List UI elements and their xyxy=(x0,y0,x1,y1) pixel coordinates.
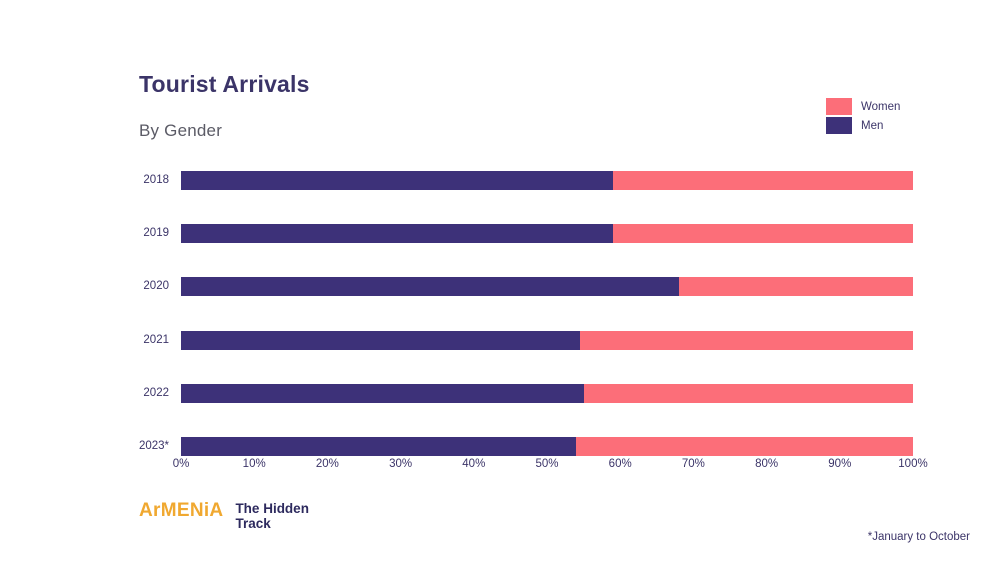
logo-hidden-track-text: The Hidden Track xyxy=(235,501,309,531)
bar-row xyxy=(181,224,913,243)
legend-item-women[interactable]: Women xyxy=(826,98,956,115)
bar-row xyxy=(181,437,913,456)
x-axis-tick: 70% xyxy=(682,458,705,470)
chart-legend: Women Men xyxy=(826,98,956,136)
bar-segment-men[interactable] xyxy=(181,171,613,190)
logo-hidden-track-line1: The Hidden xyxy=(235,501,309,516)
logo-armenia-text: ArMENiA xyxy=(139,501,223,521)
bar-segment-women[interactable] xyxy=(679,277,913,296)
x-axis-tick: 90% xyxy=(828,458,851,470)
y-axis-label: 2020 xyxy=(109,277,169,296)
x-axis-tick: 50% xyxy=(535,458,558,470)
bar-row xyxy=(181,384,913,403)
chart-canvas: Tourist Arrivals By Gender Women Men 201… xyxy=(0,0,1000,563)
x-axis-tick: 100% xyxy=(898,458,927,470)
legend-swatch-men xyxy=(826,117,852,134)
plot-area: 201820192020202120222023* xyxy=(181,160,913,455)
legend-label-women: Women xyxy=(861,101,900,113)
logo-hidden-track-line2: Track xyxy=(235,516,309,531)
y-axis-label: 2022 xyxy=(109,384,169,403)
x-axis-tick: 20% xyxy=(316,458,339,470)
legend-item-men[interactable]: Men xyxy=(826,117,956,134)
bar-segment-women[interactable] xyxy=(580,331,913,350)
legend-swatch-women xyxy=(826,98,852,115)
bar-segment-men[interactable] xyxy=(181,277,679,296)
bar-segment-women[interactable] xyxy=(584,384,913,403)
bar-segment-men[interactable] xyxy=(181,437,576,456)
bar-row xyxy=(181,277,913,296)
x-axis-tick: 40% xyxy=(462,458,485,470)
x-axis: 0%10%20%30%40%50%60%70%80%90%100% xyxy=(181,458,913,478)
page-title: Tourist Arrivals xyxy=(139,71,310,98)
chart-subtitle: By Gender xyxy=(139,121,222,141)
y-axis-label: 2023* xyxy=(109,437,169,456)
x-axis-tick: 80% xyxy=(755,458,778,470)
x-axis-tick: 30% xyxy=(389,458,412,470)
y-axis-label: 2018 xyxy=(109,171,169,190)
bar-row xyxy=(181,331,913,350)
bar-segment-women[interactable] xyxy=(613,171,913,190)
y-axis-label: 2021 xyxy=(109,331,169,350)
x-axis-tick: 60% xyxy=(609,458,632,470)
bar-segment-men[interactable] xyxy=(181,331,580,350)
bar-segment-men[interactable] xyxy=(181,384,584,403)
bar-segment-men[interactable] xyxy=(181,224,613,243)
bar-segment-women[interactable] xyxy=(613,224,913,243)
footnote: *January to October xyxy=(868,531,970,543)
x-axis-tick: 10% xyxy=(243,458,266,470)
brand-logo: ArMENiA The Hidden Track xyxy=(139,501,309,531)
y-axis-label: 2019 xyxy=(109,224,169,243)
legend-label-men: Men xyxy=(861,120,883,132)
x-axis-tick: 0% xyxy=(173,458,190,470)
bar-segment-women[interactable] xyxy=(576,437,913,456)
bar-row xyxy=(181,171,913,190)
